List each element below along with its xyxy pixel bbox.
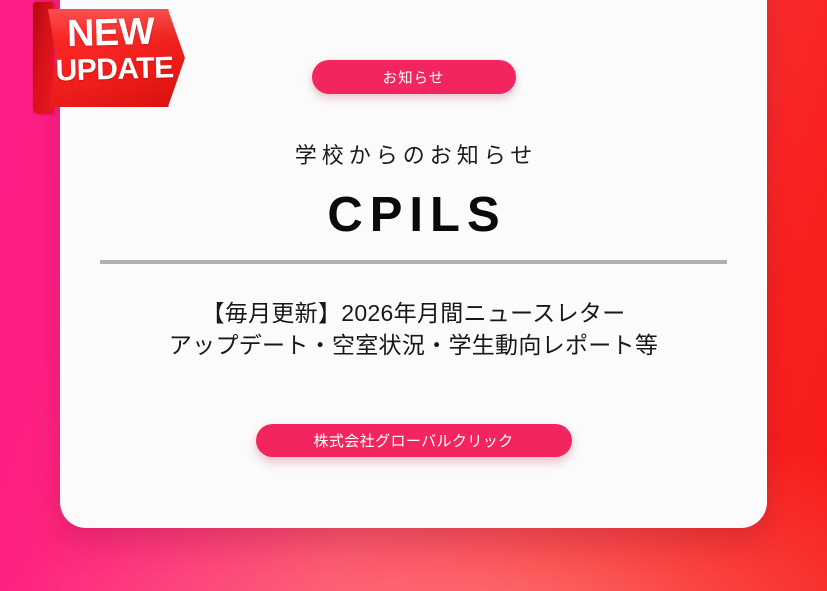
announcement-banner: お知らせ 学校からのお知らせ CPILS 【毎月更新】2026年月間ニュースレタ… xyxy=(0,0,827,591)
ribbon-label-new: NEW xyxy=(54,12,167,53)
ribbon-text: NEW UPDATE xyxy=(54,12,168,86)
notice-badge[interactable]: お知らせ xyxy=(312,60,516,94)
description-line-2: アップデート・空室状況・学生動向レポート等 xyxy=(169,330,658,362)
company-button[interactable]: 株式会社グローバルクリック xyxy=(256,424,572,457)
title-divider xyxy=(100,260,727,264)
school-subtitle: 学校からのお知らせ xyxy=(290,138,538,170)
description-line-1: 【毎月更新】2026年月間ニュースレター xyxy=(169,298,658,330)
new-update-ribbon: NEW UPDATE xyxy=(33,2,185,114)
page-title: CPILS xyxy=(320,190,506,241)
description-block: 【毎月更新】2026年月間ニュースレター アップデート・空室状況・学生動向レポー… xyxy=(169,298,658,361)
ribbon-label-update: UPDATE xyxy=(55,53,168,86)
